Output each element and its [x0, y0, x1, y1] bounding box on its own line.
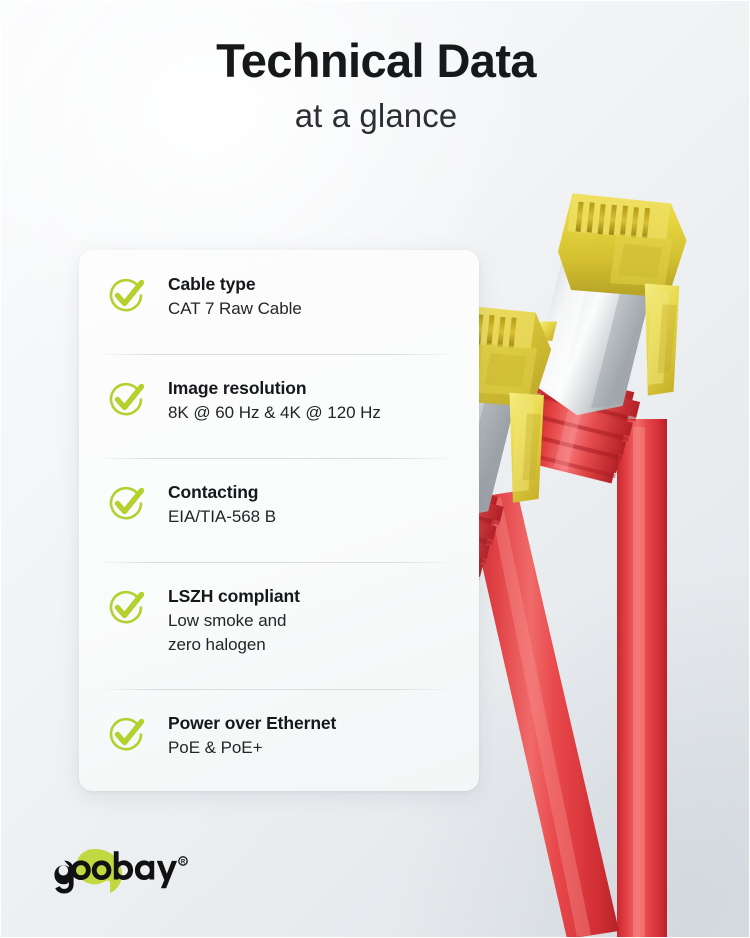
spec-label: LSZH compliant — [168, 585, 300, 607]
spec-card: Cable type CAT 7 Raw Cable Image resolut… — [79, 250, 479, 791]
spec-text: Contacting EIA/TIA-568 B — [168, 480, 276, 529]
latch-clip-left — [484, 387, 563, 509]
page-title: Technical Data — [1, 35, 750, 88]
cable-left — [467, 491, 619, 938]
spec-label: Image resolution — [168, 377, 381, 399]
spec-value: PoE & PoE+ — [168, 736, 336, 759]
cable-right — [617, 419, 667, 938]
strain-relief-boot-right — [516, 369, 642, 486]
metal-shield-right — [521, 234, 660, 425]
spec-text: Cable type CAT 7 Raw Cable — [168, 272, 302, 321]
spec-item-lszh-compliant: LSZH compliant Low smoke and zero haloge… — [79, 562, 479, 689]
spec-item-image-resolution: Image resolution 8K @ 60 Hz & 4K @ 120 H… — [79, 354, 479, 458]
check-circle-icon — [104, 482, 148, 526]
check-circle-icon — [104, 713, 148, 757]
check-circle-icon — [104, 586, 148, 630]
check-circle-icon — [104, 274, 148, 318]
spec-divider — [104, 562, 451, 563]
spec-label: Contacting — [168, 481, 276, 503]
page-subtitle: at a glance — [1, 96, 750, 136]
spec-divider — [104, 354, 451, 355]
spec-label: Power over Ethernet — [168, 712, 336, 734]
trademark-symbol: R — [179, 857, 187, 866]
spec-text: Power over Ethernet PoE & PoE+ — [168, 711, 336, 760]
spec-text: LSZH compliant Low smoke and zero haloge… — [168, 584, 300, 656]
spec-value: Low smoke and zero halogen — [168, 609, 300, 656]
gold-contact-pins-right — [571, 191, 654, 248]
spec-item-contacting: Contacting EIA/TIA-568 B — [79, 458, 479, 562]
spec-divider — [104, 458, 451, 459]
spec-value: 8K @ 60 Hz & 4K @ 120 Hz — [168, 401, 381, 424]
header: Technical Data at a glance — [1, 35, 750, 135]
spec-value: CAT 7 Raw Cable — [168, 297, 302, 320]
spec-list: Cable type CAT 7 Raw Cable Image resolut… — [79, 250, 479, 791]
check-circle-icon — [104, 378, 148, 422]
connector-housing-right — [550, 180, 695, 314]
spec-item-cable-type: Cable type CAT 7 Raw Cable — [79, 250, 479, 354]
spec-label: Cable type — [168, 273, 302, 295]
svg-text:R: R — [181, 860, 186, 866]
spec-text: Image resolution 8K @ 60 Hz & 4K @ 120 H… — [168, 376, 381, 425]
spec-item-power-over-ethernet: Power over Ethernet PoE & PoE+ — [79, 689, 479, 791]
goobay-logo: R — [49, 845, 209, 895]
rj45-connector-right — [507, 180, 718, 493]
infographic-poster: Technical Data at a glance — [0, 0, 750, 938]
spec-divider — [104, 689, 451, 690]
spec-value: EIA/TIA-568 B — [168, 505, 276, 528]
latch-clip-right — [619, 278, 699, 402]
